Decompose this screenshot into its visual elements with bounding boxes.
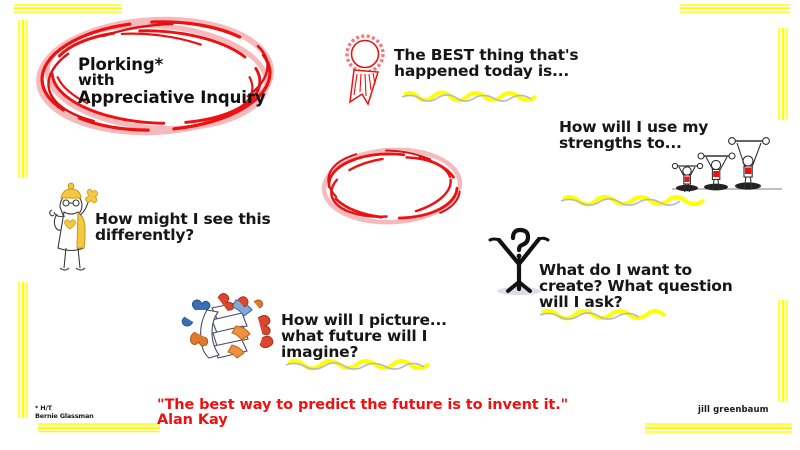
footnote-text: * H/T Bernie Glassman [35, 404, 94, 420]
slide-canvas: Plorking*withAppreciative Inquiry The BE… [0, 0, 800, 450]
underline-squiggle-picture [0, 0, 800, 450]
quote-text: "The best way to predict the future is t… [157, 398, 568, 428]
author-credit: jill greenbaum [698, 405, 769, 415]
